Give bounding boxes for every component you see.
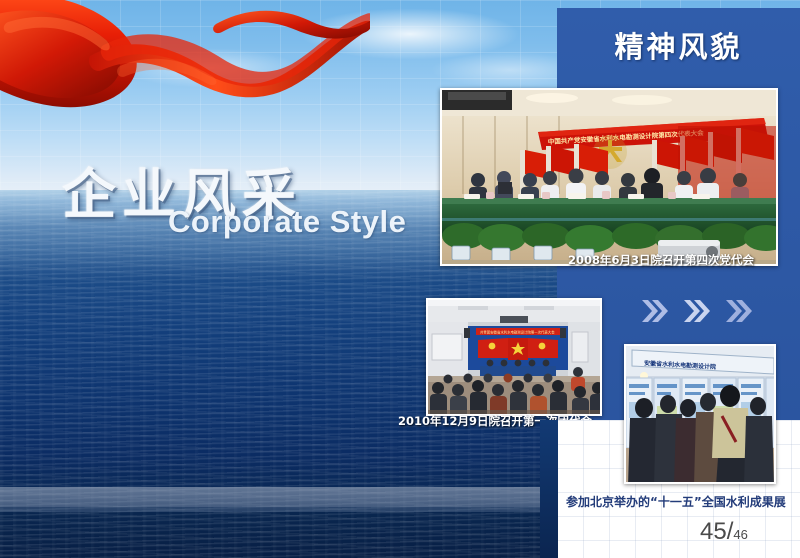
svg-text:共青团安徽省水利水电勘测设计院第一次代表大会: 共青团安徽省水利水电勘测设计院第一次代表大会 bbox=[480, 330, 555, 335]
water-conservancy-exhibition-photo-caption: 参加北京举办的“十一五”全国水利成果展 bbox=[566, 493, 786, 510]
water-conservancy-exhibition-photo-art: 安徽省水利水电勘测设计院 bbox=[626, 346, 776, 484]
water-highlight-band bbox=[0, 487, 560, 507]
page-number-total: 46 bbox=[733, 527, 747, 542]
party-congress-photo: 中国共产党安徽省水利水电勘测设计院第四次代表大会 bbox=[440, 88, 778, 266]
page-subtitle: Corporate Style bbox=[168, 204, 406, 240]
youth-league-congress-photo-art: 共青团安徽省水利水电勘测设计院第一次代表大会 bbox=[428, 300, 602, 416]
chevron-double-right-icon bbox=[640, 298, 760, 324]
panel-title: 精神风貌 bbox=[557, 24, 800, 66]
party-congress-photo-art: 中国共产党安徽省水利水电勘测设计院第四次代表大会 bbox=[442, 90, 778, 266]
water-highlight-band bbox=[0, 507, 560, 512]
water-conservancy-exhibition-photo: 安徽省水利水电勘测设计院 bbox=[624, 344, 776, 484]
party-congress-photo-caption: 2008年6月3日院召开第四次党代会 bbox=[568, 252, 754, 268]
youth-league-congress-photo: 共青团安徽省水利水电勘测设计院第一次代表大会 bbox=[426, 298, 602, 416]
page-number-current: 45 bbox=[700, 518, 727, 545]
page-number: 45/46 bbox=[700, 518, 748, 546]
red-silk-ribbon bbox=[0, 0, 370, 124]
slide-canvas: 精神风貌 bbox=[0, 0, 800, 558]
card-edge-strip bbox=[540, 420, 558, 558]
